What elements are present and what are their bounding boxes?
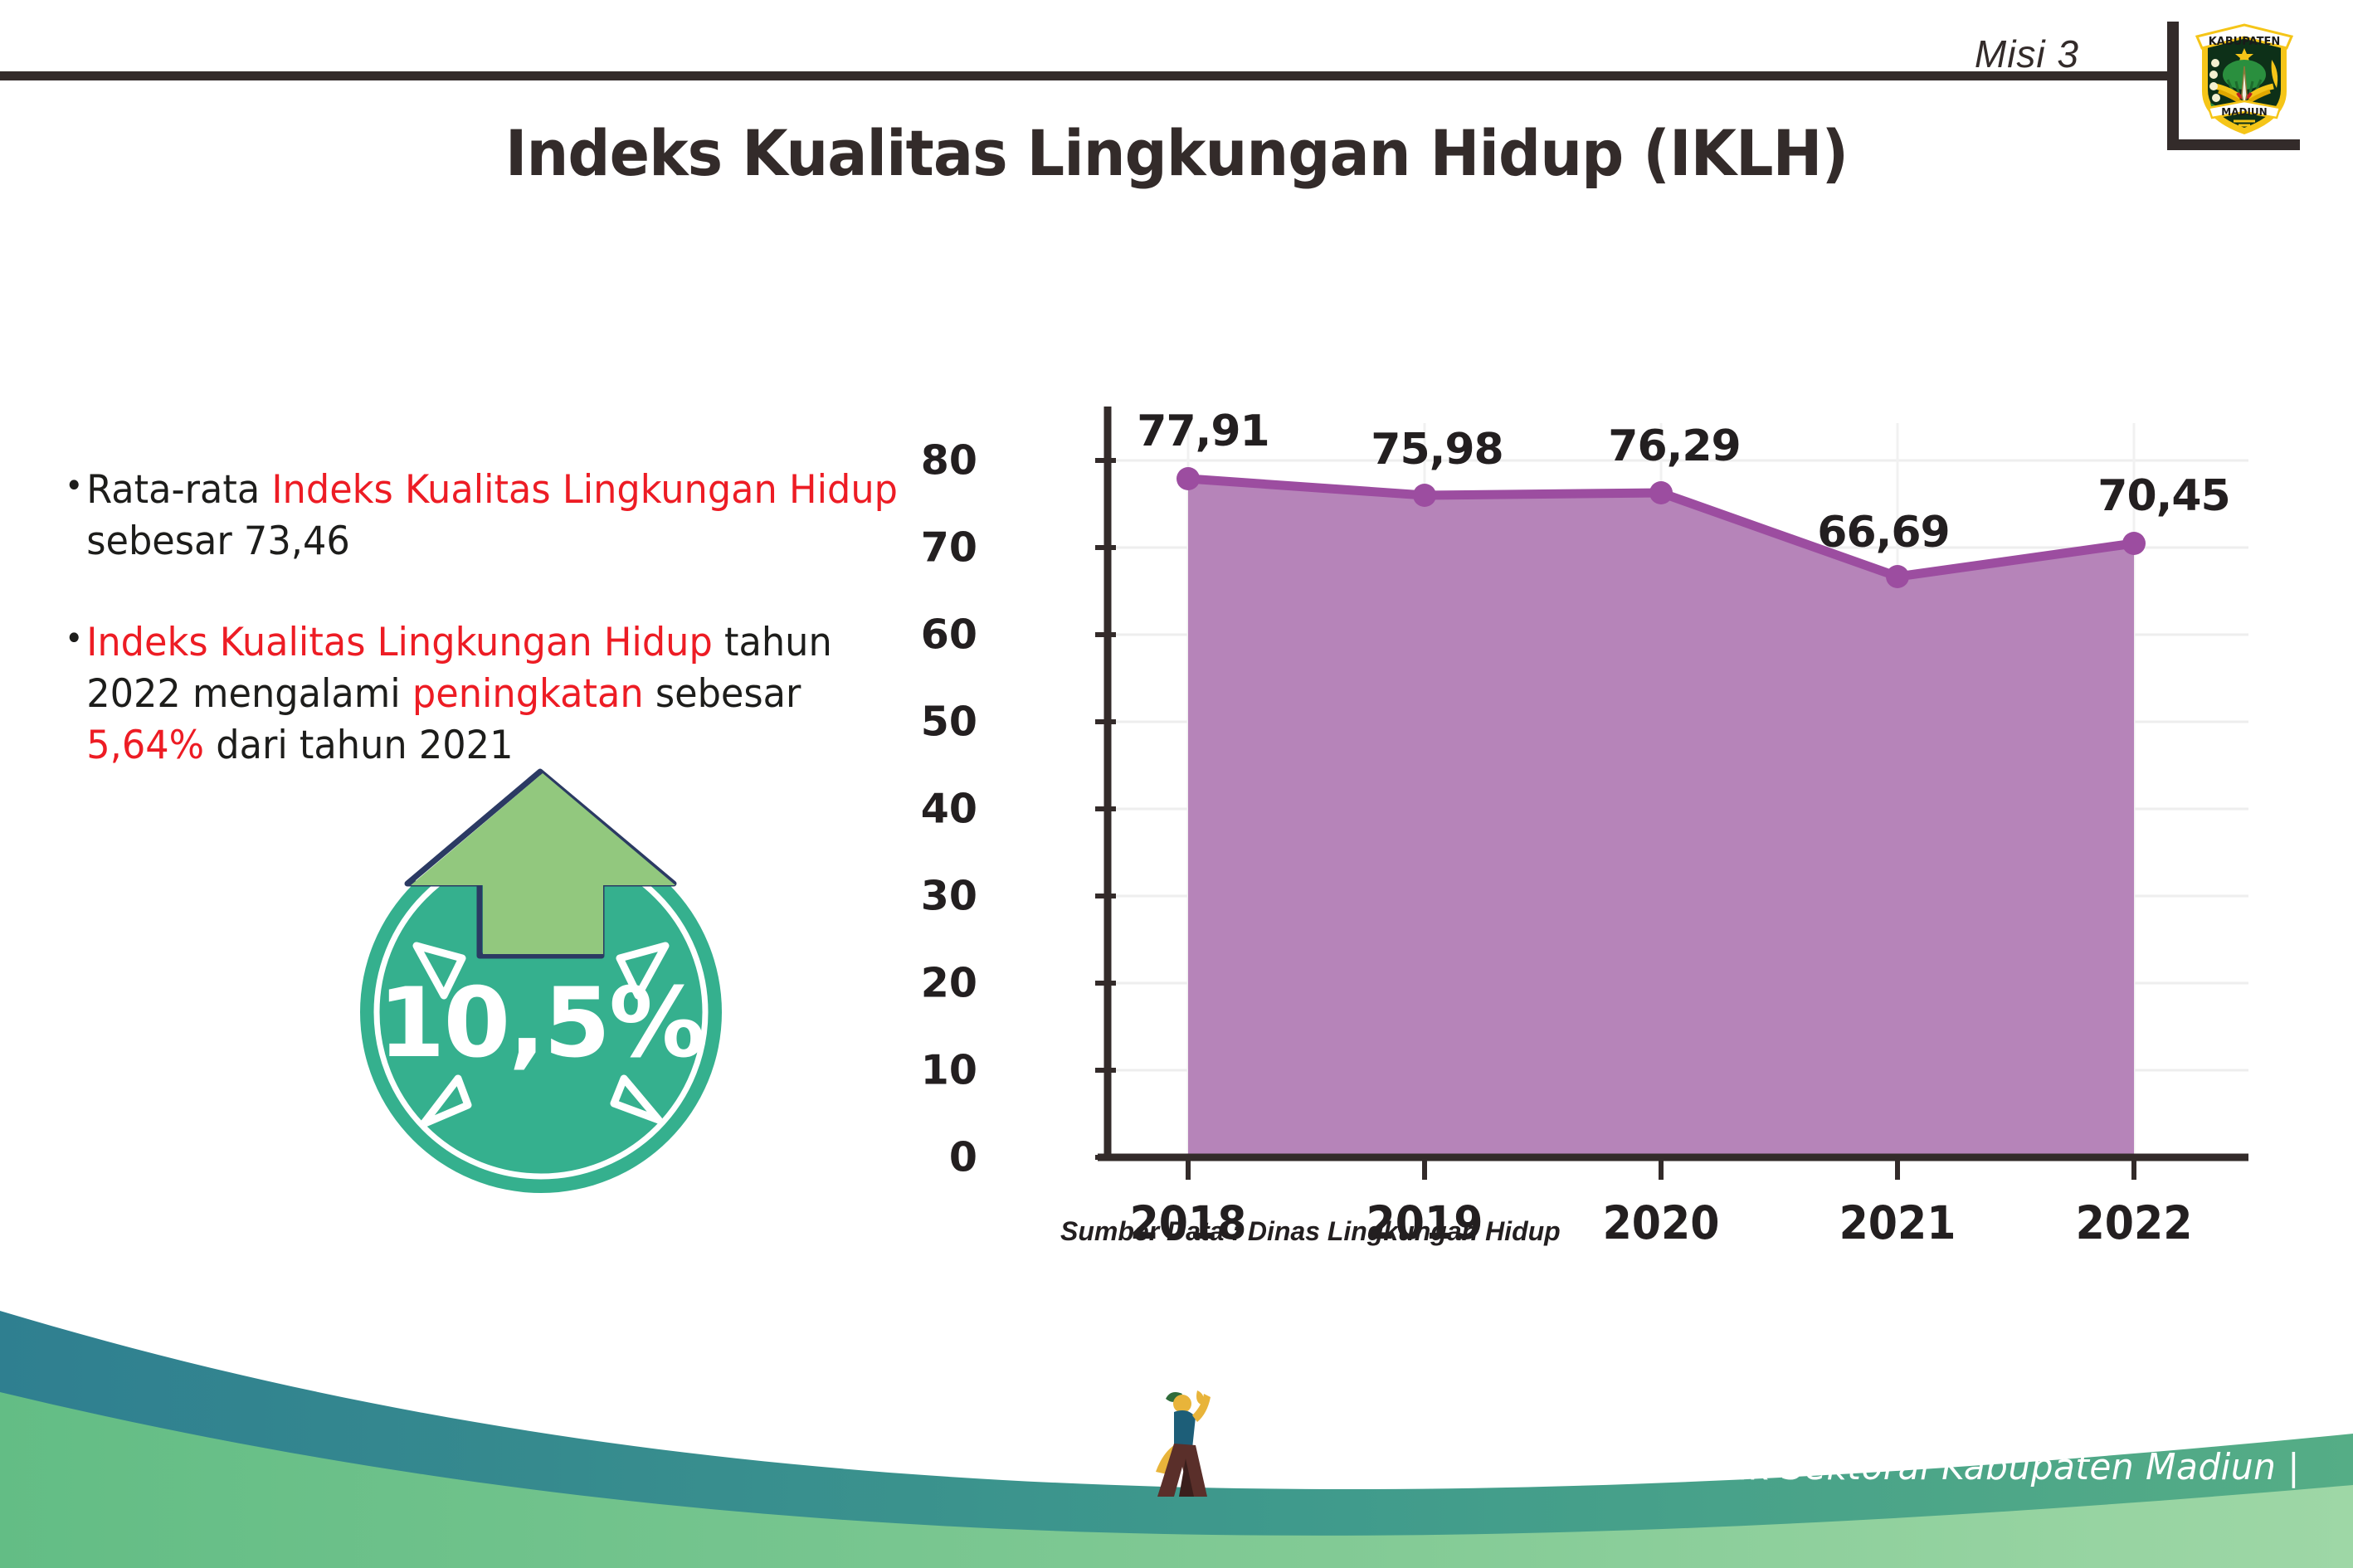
data-label: 76,29 (1608, 421, 1740, 471)
data-label: 66,69 (1817, 508, 1949, 558)
bullet-seg: sebesar 73,46 (86, 519, 350, 564)
increase-badge: 10,5% (325, 747, 757, 1195)
y-tick-label: 70 (870, 524, 977, 572)
svg-text:KABUPATEN: KABUPATEN (2209, 36, 2281, 48)
y-tick-label: 0 (870, 1134, 977, 1181)
chart-area-fill (1188, 479, 2134, 1157)
iklh-area-chart: 0 10 20 30 40 50 60 70 80 2018 2019 2020… (979, 290, 2273, 1203)
misi-label: Misi 3 (1975, 32, 2079, 76)
y-tick-label: 60 (870, 611, 977, 659)
bullet-text-average: Rata-rata Indeks Kualitas Lingkungan Hid… (86, 465, 923, 567)
bullet-seg-highlight: Indeks Kualitas Lingkungan Hidup (86, 620, 713, 665)
statistics-figure-icon (1149, 1379, 1228, 1503)
y-tick-label: 40 (870, 786, 977, 833)
bullet-dot-icon: • (65, 617, 83, 660)
infographic-page: Misi 3 KABUPATEN MADIUN Indeks Kualitas … (0, 0, 2353, 1568)
bullet-seg-highlight: 5,64% (86, 723, 204, 768)
y-tick-label: 50 (870, 699, 977, 746)
chart-source-note: Sumber Data : Dinas Lingkungan Hidup (1060, 1216, 1561, 1247)
footer-text: Media Infografis Data Statistik Sektoral… (1228, 1446, 2300, 1488)
x-tick-label: 2022 (2076, 1196, 2193, 1249)
y-tick-label: 10 (870, 1047, 977, 1094)
badge-percent-value: 10,5% (325, 967, 757, 1079)
footer: Media Infografis Data Statistik Sektoral… (0, 1294, 2353, 1568)
data-label: 75,98 (1371, 425, 1503, 475)
header-divider-rule (0, 71, 2174, 80)
bullet-item-average: • Rata-rata Indeks Kualitas Lingkungan H… (65, 465, 924, 567)
bullet-seg: Rata-rata (86, 467, 271, 513)
bullet-seg-highlight: peningkatan (412, 671, 644, 717)
x-tick-label: 2020 (1603, 1196, 1720, 1249)
bullet-seg-highlight: Indeks Kualitas Lingkungan Hidup (271, 467, 898, 513)
page-title: Indeks Kualitas Lingkungan Hidup (IKLH) (71, 116, 2282, 190)
bullet-seg: sebesar (644, 671, 801, 717)
data-label: 70,45 (2097, 471, 2229, 521)
data-label: 77,91 (1137, 407, 1269, 456)
y-tick-label: 20 (870, 960, 977, 1007)
bullet-dot-icon: • (65, 465, 83, 508)
x-tick-label: 2021 (1839, 1196, 1956, 1249)
y-tick-label: 30 (870, 873, 977, 920)
y-tick-label: 80 (870, 437, 977, 485)
